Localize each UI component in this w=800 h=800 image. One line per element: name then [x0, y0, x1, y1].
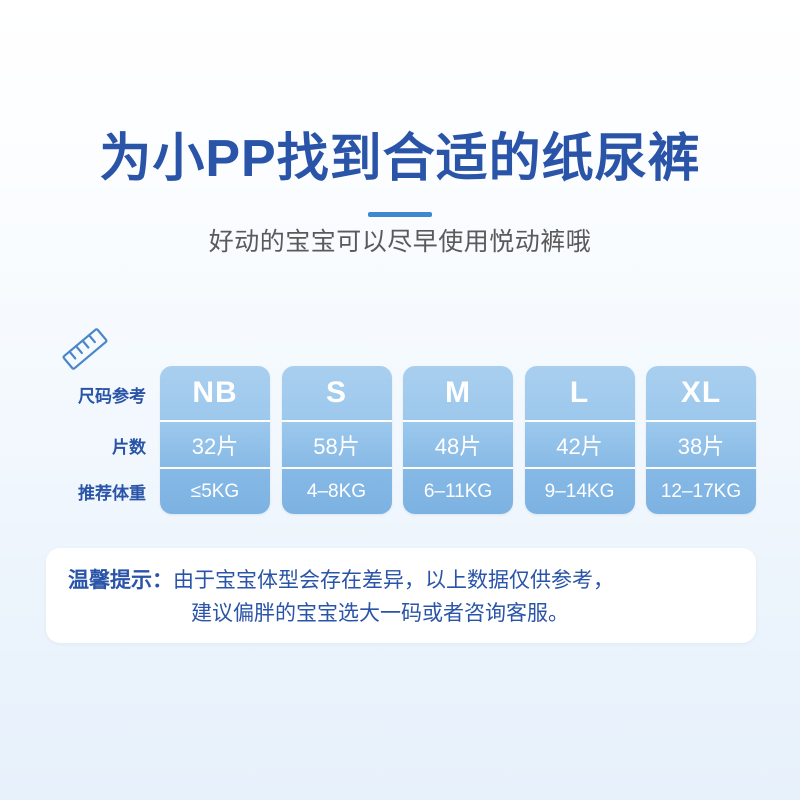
size-cell: S — [282, 366, 392, 420]
count-cell: 38片 — [646, 420, 756, 467]
tip-line-1: 由于宝宝体型会存在差异，以上数据仅供参考， — [173, 564, 736, 597]
row-label-weight: 推荐体重 — [46, 468, 146, 514]
size-column-s[interactable]: S 58片 4–8KG — [282, 366, 392, 514]
size-table: 尺码参考 片数 推荐体重 NB 32片 ≤5KG S 58片 4–8KG M 4… — [46, 366, 756, 514]
weight-cell: ≤5KG — [160, 467, 270, 514]
count-cell: 58片 — [282, 420, 392, 467]
size-column-xl[interactable]: XL 38片 12–17KG — [646, 366, 756, 514]
count-cell: 48片 — [403, 420, 513, 467]
weight-cell: 6–11KG — [403, 467, 513, 514]
row-label-size: 尺码参考 — [46, 366, 146, 422]
count-cell: 42片 — [525, 420, 635, 467]
size-cell: L — [525, 366, 635, 420]
page-subtitle: 好动的宝宝可以尽早使用悦动裤哦 — [0, 226, 800, 258]
tip-box: 温馨提示： 由于宝宝体型会存在差异，以上数据仅供参考， 建议偏胖的宝宝选大一码或… — [46, 548, 756, 643]
title-divider — [368, 212, 432, 217]
size-column-m[interactable]: M 48片 6–11KG — [403, 366, 513, 514]
page-title: 为小PP找到合适的纸尿裤 — [0, 130, 800, 188]
count-cell: 32片 — [160, 420, 270, 467]
header: 为小PP找到合适的纸尿裤 好动的宝宝可以尽早使用悦动裤哦 — [0, 130, 800, 258]
tip-line-2: 建议偏胖的宝宝选大一码或者咨询客服。 — [173, 597, 736, 630]
size-column-nb[interactable]: NB 32片 ≤5KG — [160, 366, 270, 514]
size-table-row-labels: 尺码参考 片数 推荐体重 — [46, 366, 146, 514]
weight-cell: 4–8KG — [282, 467, 392, 514]
title-divider-wrap — [0, 204, 800, 210]
row-label-count: 片数 — [46, 422, 146, 468]
size-table-columns: NB 32片 ≤5KG S 58片 4–8KG M 48片 6–11KG L 4… — [160, 366, 756, 514]
size-cell: NB — [160, 366, 270, 420]
weight-cell: 12–17KG — [646, 467, 756, 514]
size-cell: M — [403, 366, 513, 420]
tip-label: 温馨提示： — [68, 564, 173, 597]
size-column-l[interactable]: L 42片 9–14KG — [525, 366, 635, 514]
tip-body: 由于宝宝体型会存在差异，以上数据仅供参考， 建议偏胖的宝宝选大一码或者咨询客服。 — [173, 564, 736, 630]
weight-cell: 9–14KG — [525, 467, 635, 514]
size-cell: XL — [646, 366, 756, 420]
size-guide-page: 为小PP找到合适的纸尿裤 好动的宝宝可以尽早使用悦动裤哦 尺码参考 片数 推荐体… — [0, 0, 800, 800]
